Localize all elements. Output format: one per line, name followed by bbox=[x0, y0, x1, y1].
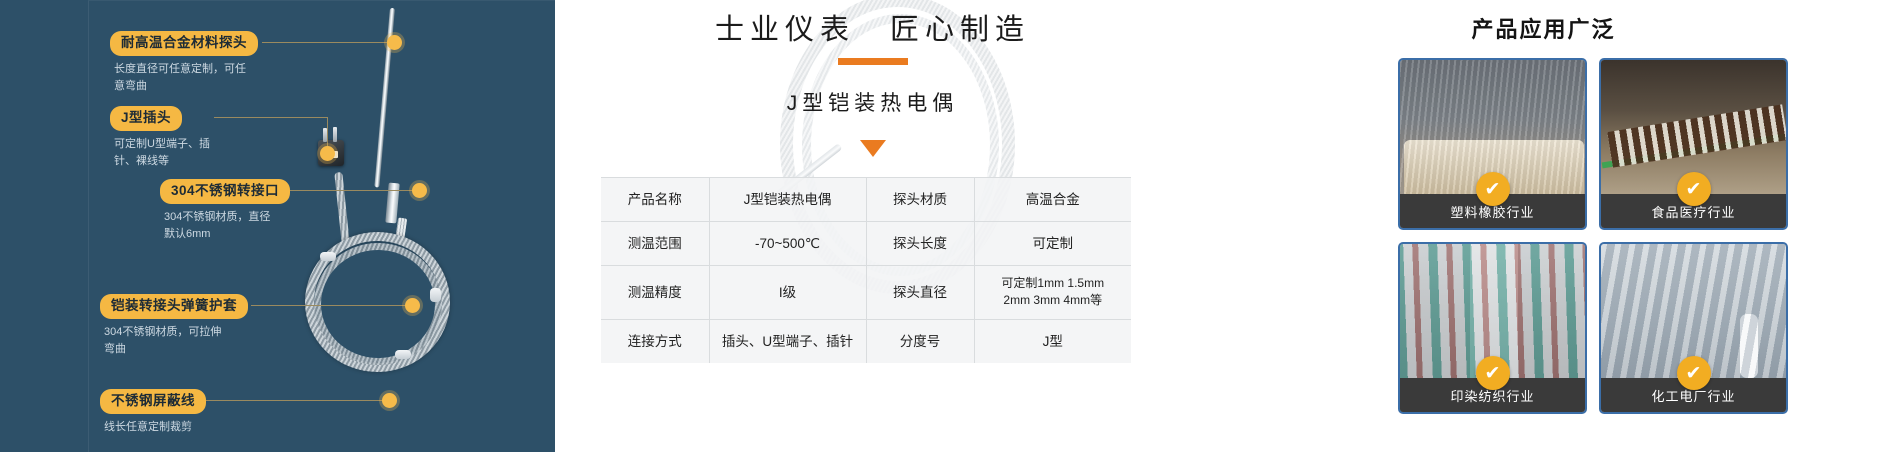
callout-title: 耐高温合金材料探头 bbox=[110, 31, 258, 56]
application-heading: 产品应用广泛 bbox=[1190, 12, 1897, 44]
callout-title: 304不锈钢转接口 bbox=[160, 179, 290, 204]
leader-line bbox=[273, 190, 419, 191]
hotspot-dot[interactable] bbox=[387, 35, 402, 50]
spec-value: J型铠装热电偶 bbox=[709, 178, 866, 222]
spec-value: 插头、U型端子、插针 bbox=[709, 319, 866, 363]
check-icon: ✔ bbox=[1677, 356, 1711, 390]
application-panel: 产品应用广泛 ✔ 塑料橡胶行业 ✔ 食品医疗行业 ✔ 印染纺织行业 ✔ 化工电厂… bbox=[1190, 0, 1897, 452]
callout-stainless-adapter: 304不锈钢转接口 304不锈钢材质，直径 默认6mm bbox=[160, 179, 290, 243]
spec-key: 测温范围 bbox=[601, 222, 709, 266]
cable-coil-inner-graphic bbox=[314, 243, 442, 365]
leader-line bbox=[214, 117, 328, 118]
title-underline-bar bbox=[838, 58, 908, 65]
spec-value: J型 bbox=[974, 319, 1131, 363]
callout-j-type-plug: J型插头 可定制U型端子、插 针、裸线等 bbox=[110, 106, 210, 170]
spec-key: 探头长度 bbox=[866, 222, 974, 266]
check-icon: ✔ bbox=[1677, 172, 1711, 206]
spec-value: I级 bbox=[709, 266, 866, 320]
hotspot-dot[interactable] bbox=[405, 298, 420, 313]
hotspot-dot[interactable] bbox=[320, 146, 335, 161]
spec-key: 分度号 bbox=[866, 319, 974, 363]
spec-value: 高温合金 bbox=[974, 178, 1131, 222]
spec-key: 探头材质 bbox=[866, 178, 974, 222]
callout-title: 铠装转接头弹簧护套 bbox=[100, 294, 248, 319]
callout-shielded-wire: 不锈钢屏蔽线 线长任意定制裁剪 bbox=[100, 389, 206, 436]
callout-description: 304不锈钢材质，直径 默认6mm bbox=[160, 209, 290, 243]
shielded-cable-graphic bbox=[334, 172, 349, 244]
application-card-food-medical[interactable]: ✔ 食品医疗行业 bbox=[1599, 58, 1788, 230]
hotspot-dot[interactable] bbox=[382, 393, 397, 408]
check-icon: ✔ bbox=[1476, 172, 1510, 206]
spec-value: 可定制 bbox=[974, 222, 1131, 266]
hotspot-dot[interactable] bbox=[412, 183, 427, 198]
product-name-heading: J型铠装热电偶 bbox=[555, 87, 1190, 117]
spec-key: 产品名称 bbox=[601, 178, 709, 222]
cable-tie-graphic bbox=[395, 350, 411, 359]
cable-tie-graphic bbox=[320, 252, 336, 261]
spec-key: 连接方式 bbox=[601, 319, 709, 363]
down-triangle-icon bbox=[860, 140, 886, 157]
callout-description: 304不锈钢材质，可拉伸 弯曲 bbox=[100, 324, 248, 358]
leader-line bbox=[199, 400, 388, 401]
product-feature-panel: 耐高温合金材料探头 长度直径可任意定制，可任 意弯曲 J型插头 可定制U型端子、… bbox=[0, 0, 555, 452]
callout-spring-sheath: 铠装转接头弹簧护套 304不锈钢材质，可拉伸 弯曲 bbox=[100, 294, 248, 358]
callout-title: J型插头 bbox=[110, 106, 182, 131]
callout-description: 线长任意定制裁剪 bbox=[100, 419, 206, 436]
application-card-textile[interactable]: ✔ 印染纺织行业 bbox=[1398, 242, 1587, 414]
application-grid: ✔ 塑料橡胶行业 ✔ 食品医疗行业 ✔ 印染纺织行业 ✔ 化工电厂行业 bbox=[1398, 58, 1788, 414]
spec-value: 可定制1mm 1.5mm 2mm 3mm 4mm等 bbox=[974, 266, 1131, 320]
cable-tie-graphic bbox=[430, 288, 441, 302]
product-detail-page: 耐高温合金材料探头 长度直径可任意定制，可任 意弯曲 J型插头 可定制U型端子、… bbox=[0, 0, 1897, 452]
spec-key: 测温精度 bbox=[601, 266, 709, 320]
table-row: 测温精度 I级 探头直径 可定制1mm 1.5mm 2mm 3mm 4mm等 bbox=[601, 266, 1131, 320]
callout-description: 可定制U型端子、插 针、裸线等 bbox=[110, 136, 210, 170]
product-spec-panel: 士业仪表 匠心制造 J型铠装热电偶 产品名称 J型铠装热电偶 探头材质 高温合金… bbox=[555, 0, 1190, 452]
check-icon: ✔ bbox=[1476, 356, 1510, 390]
table-row: 连接方式 插头、U型端子、插针 分度号 J型 bbox=[601, 319, 1131, 363]
callout-description: 长度直径可任意定制，可任 意弯曲 bbox=[110, 61, 258, 95]
callout-probe-material: 耐高温合金材料探头 长度直径可任意定制，可任 意弯曲 bbox=[110, 31, 258, 95]
brand-slogan: 士业仪表 匠心制造 bbox=[555, 6, 1190, 48]
leader-line bbox=[262, 42, 394, 43]
leader-line bbox=[251, 305, 412, 306]
table-row: 产品名称 J型铠装热电偶 探头材质 高温合金 bbox=[601, 178, 1131, 222]
application-card-plastics[interactable]: ✔ 塑料橡胶行业 bbox=[1398, 58, 1587, 230]
spec-key: 探头直径 bbox=[866, 266, 974, 320]
callout-title: 不锈钢屏蔽线 bbox=[100, 389, 206, 414]
spec-value: -70~500℃ bbox=[709, 222, 866, 266]
table-row: 测温范围 -70~500℃ 探头长度 可定制 bbox=[601, 222, 1131, 266]
application-card-chemical-power[interactable]: ✔ 化工电厂行业 bbox=[1599, 242, 1788, 414]
specification-table: 产品名称 J型铠装热电偶 探头材质 高温合金 测温范围 -70~500℃ 探头长… bbox=[601, 177, 1131, 363]
